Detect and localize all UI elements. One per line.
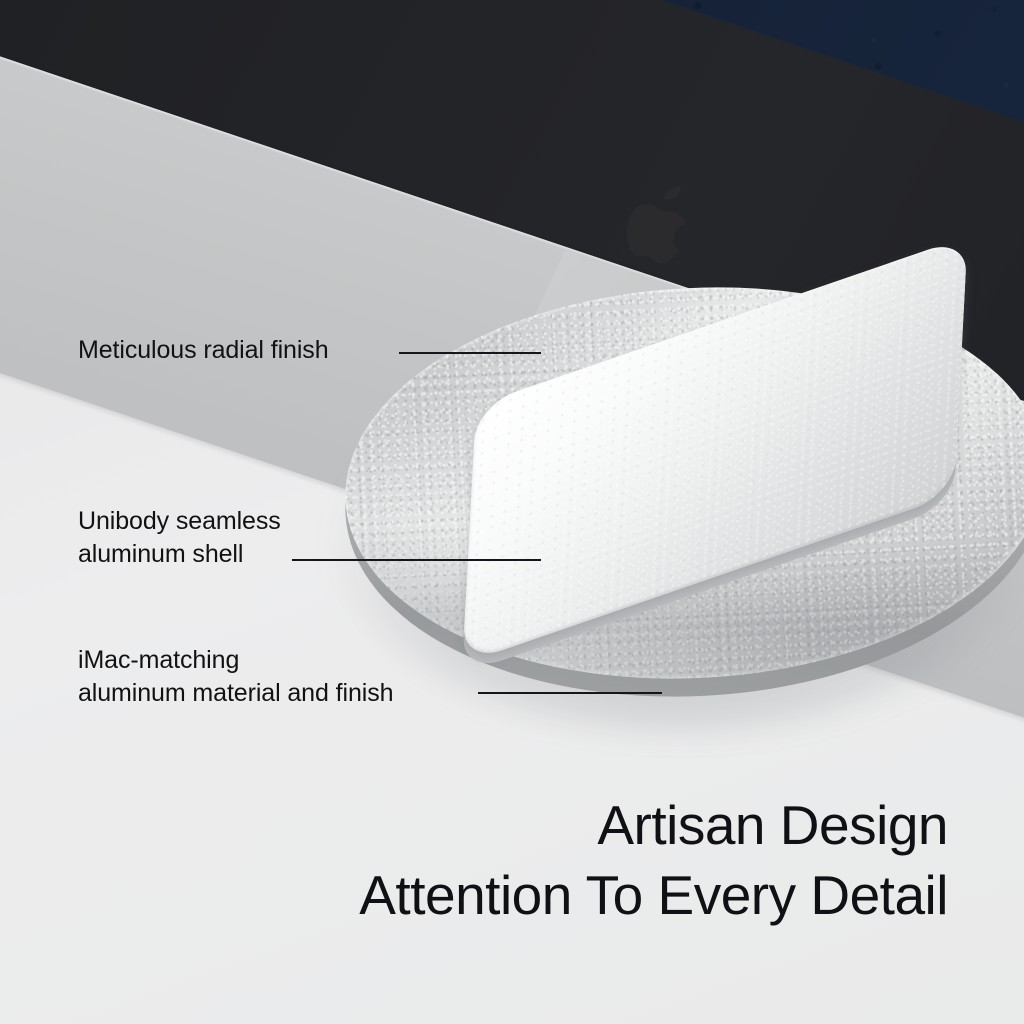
leader-line-1	[399, 352, 541, 354]
headline-line-2: Attention To Every Detail	[359, 860, 948, 930]
callout-label-imac-matching: iMac-matching aluminum material and fini…	[78, 644, 393, 710]
callout-label-radial-finish: Meticulous radial finish	[78, 334, 329, 367]
headline-line-1: Artisan Design	[597, 790, 948, 860]
callout-label-unibody-shell: Unibody seamless aluminum shell	[78, 505, 281, 571]
leader-line-3	[478, 692, 662, 694]
marketing-image: Meticulous radial finish Unibody seamles…	[0, 0, 1024, 1024]
leader-line-2	[292, 559, 541, 561]
